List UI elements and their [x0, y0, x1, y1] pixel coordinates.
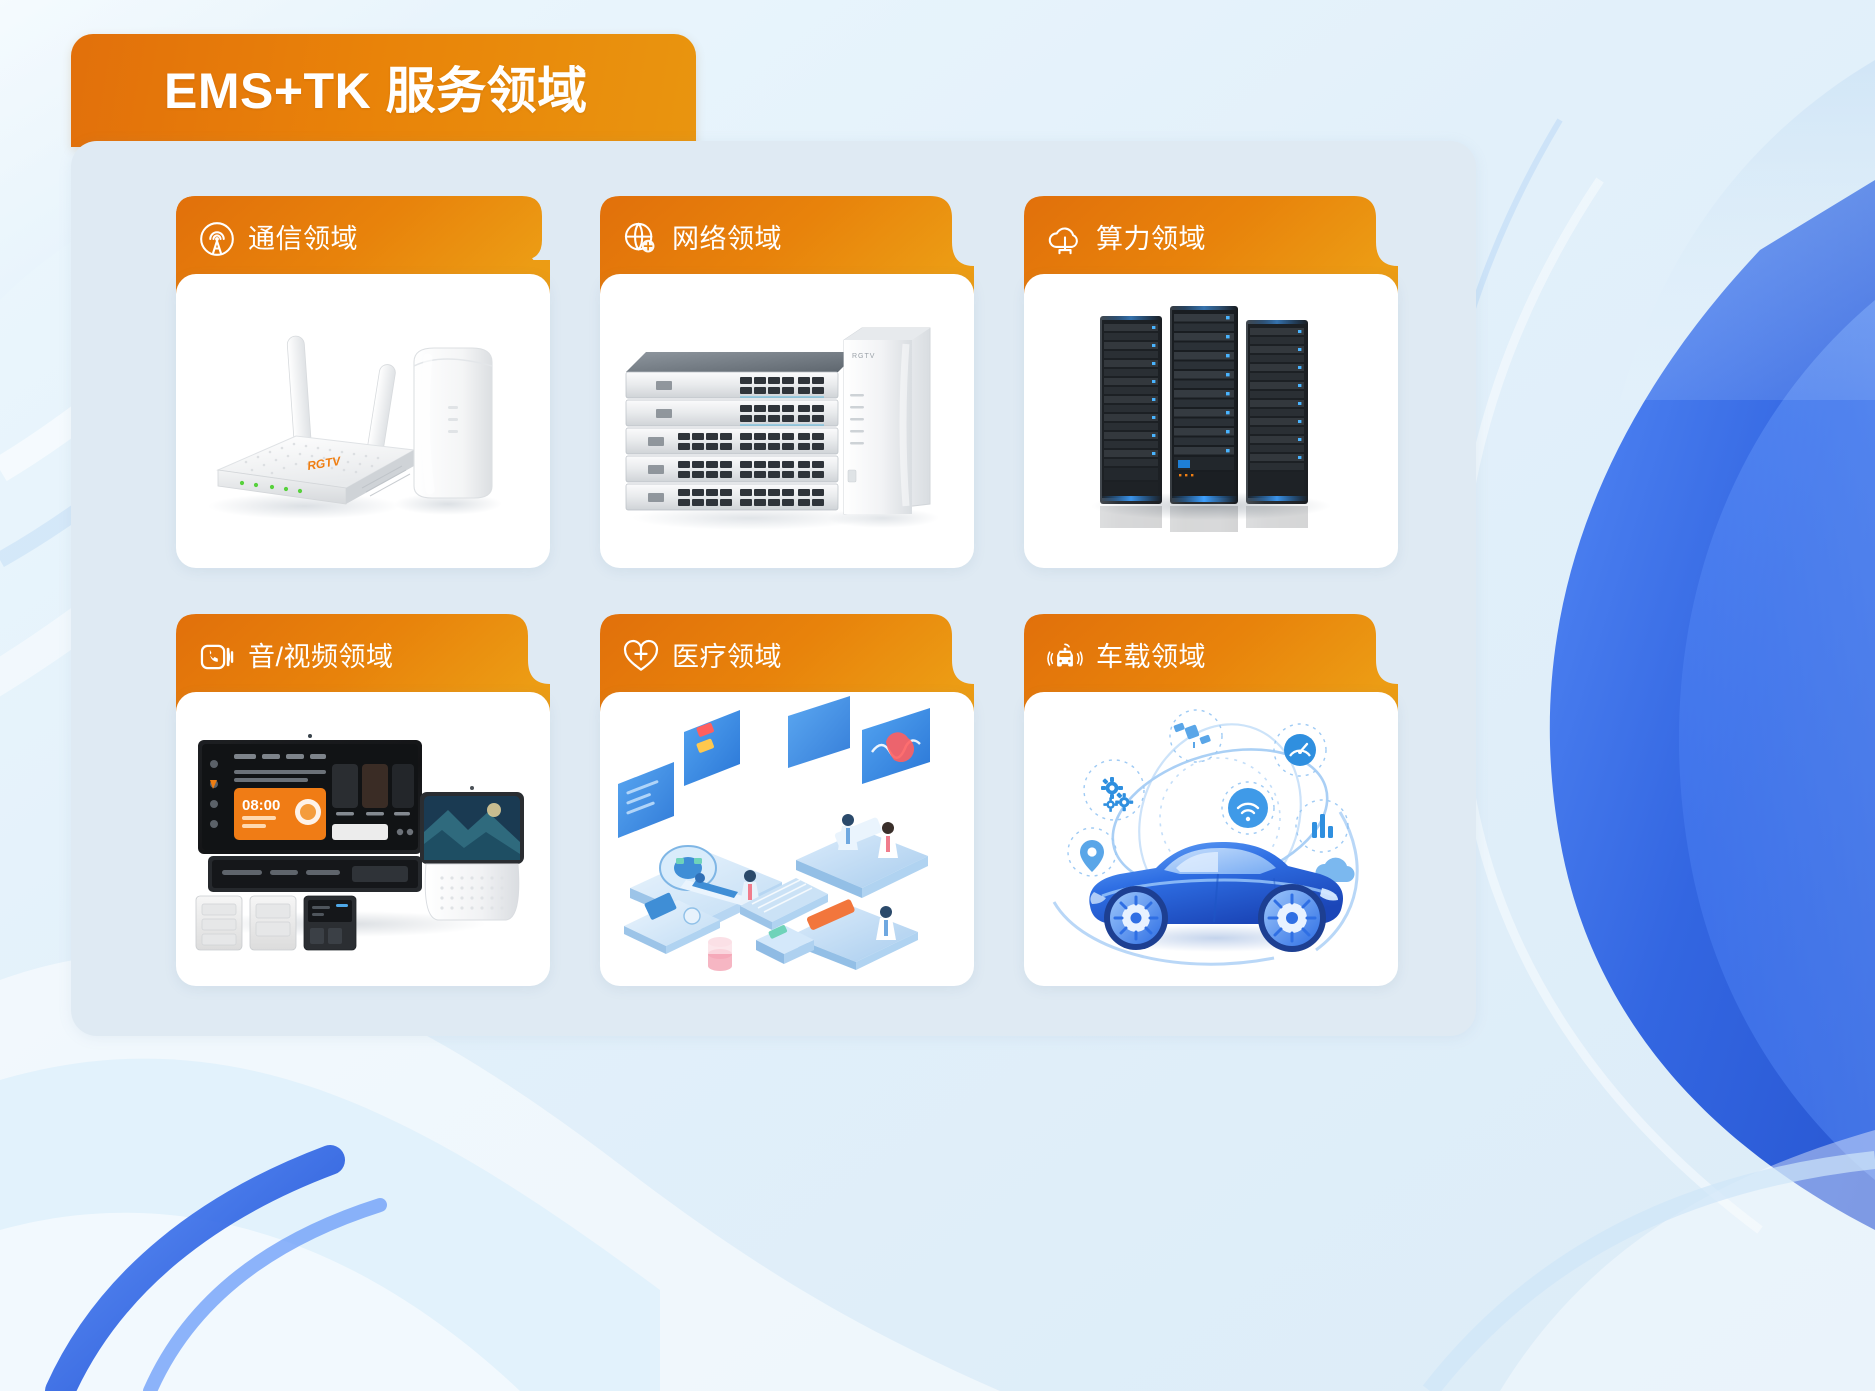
- domain-card-medical[interactable]: 医疗领域: [600, 614, 974, 986]
- domain-card-grid: 通信领域: [176, 196, 1398, 986]
- domain-card-computing-power[interactable]: 算力领域: [1024, 196, 1398, 568]
- smart-display-with-speaker: [420, 786, 524, 920]
- server-rack-left: [1100, 316, 1162, 504]
- treatment-platform: [796, 814, 928, 898]
- wifi-signal-icon: [1228, 788, 1268, 828]
- switch-stack: [626, 372, 838, 510]
- card-image-area-network: RGTV: [600, 274, 974, 568]
- server-rack-right: [1246, 320, 1308, 504]
- wheel-front: [1258, 884, 1326, 952]
- card-image-area-automotive: [1024, 692, 1398, 986]
- smart-display-art: 08:00: [176, 692, 550, 986]
- domain-card-automotive[interactable]: 车载领域: [1024, 614, 1398, 986]
- gear-icon: [1101, 777, 1133, 812]
- card-image-area-audio-video: 08:00: [176, 692, 550, 986]
- wheel-rear: [1104, 886, 1168, 950]
- svg-text:RGTV: RGTV: [852, 353, 875, 360]
- location-pin-icon: [1080, 840, 1104, 872]
- large-touch-panel: 08:00: [198, 734, 422, 854]
- sample-vial: [708, 937, 732, 971]
- card-image-area-medical: [600, 692, 974, 986]
- switches-and-nas-art: RGTV: [600, 274, 974, 568]
- server-rack-center: [1170, 306, 1238, 504]
- domain-card-communications[interactable]: 通信领域: [176, 196, 550, 568]
- domain-card-network[interactable]: 网络领域: [600, 196, 974, 568]
- vehicle: [1089, 842, 1343, 952]
- server-racks-art: [1024, 274, 1398, 568]
- card-image-area-computing-power: [1024, 274, 1398, 568]
- chart-icon: [1312, 814, 1333, 838]
- header-tab: EMS+TK 服务领域: [71, 34, 696, 147]
- isometric-hospital-art: [600, 692, 974, 986]
- secondary-panel: [208, 856, 422, 892]
- wall-switch-panels: [196, 896, 356, 950]
- speedometer-icon: [1284, 734, 1316, 766]
- card-image-area-communications: RGTV: [176, 274, 550, 568]
- connected-vehicle-art: [1024, 692, 1398, 986]
- wifi-router-and-cpe-art: RGTV: [176, 274, 550, 568]
- svg-text:08:00: 08:00: [242, 797, 280, 814]
- page-title: EMS+TK 服务领域: [164, 66, 588, 116]
- domain-card-audio-video[interactable]: 音/视频领域: [176, 614, 550, 986]
- data-screens: [618, 696, 930, 838]
